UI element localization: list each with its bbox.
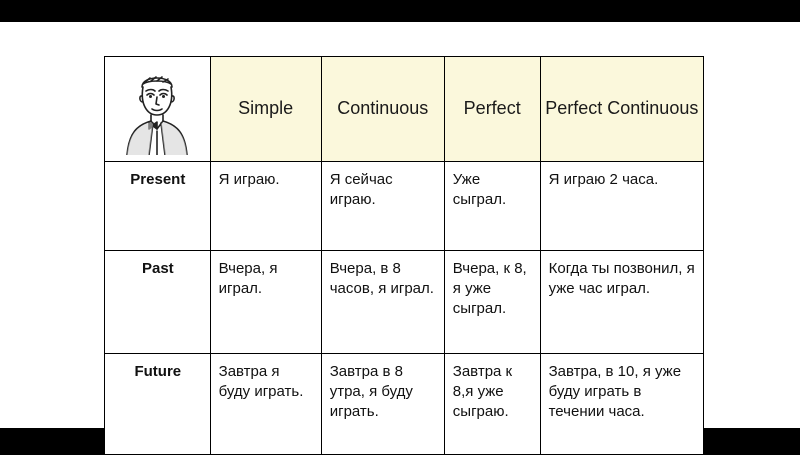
man-in-tuxedo-icon <box>109 63 205 155</box>
avatar <box>105 63 210 155</box>
cell-future-continuous: Завтра в 8 утра, я буду играть. <box>321 354 444 455</box>
row-label-present: Present <box>105 162 211 251</box>
cell-past-continuous: Вчера, в 8 часов, я играл. <box>321 251 444 354</box>
row-label-future: Future <box>105 354 211 455</box>
column-header-simple: Simple <box>210 57 321 162</box>
column-header-continuous: Continuous <box>321 57 444 162</box>
screenshot-stage: Simple Continuous Perfect Perfect Contin… <box>0 0 800 450</box>
cell-past-perfect: Вчера, к 8, я уже сыграл. <box>444 251 540 354</box>
cell-present-continuous: Я сейчас играю. <box>321 162 444 251</box>
cell-present-simple: Я играю. <box>210 162 321 251</box>
avatar-cell <box>105 57 211 162</box>
cell-future-perfect-continuous: Завтра, в 10, я уже буду играть в течени… <box>540 354 703 455</box>
cell-past-simple: Вчера, я играл. <box>210 251 321 354</box>
table-row-future: Future Завтра я буду играть. Завтра в 8 … <box>105 354 704 455</box>
tenses-table: Simple Continuous Perfect Perfect Contin… <box>104 56 704 455</box>
table-row-present: Present Я играю. Я сейчас играю. Уже сыг… <box>105 162 704 251</box>
cell-present-perfect: Уже сыграл. <box>444 162 540 251</box>
column-header-perfect: Perfect <box>444 57 540 162</box>
cell-future-perfect: Завтра к 8,я уже сыграю. <box>444 354 540 455</box>
cell-past-perfect-continuous: Когда ты позвонил, я уже час играл. <box>540 251 703 354</box>
table-row-past: Past Вчера, я играл. Вчера, в 8 часов, я… <box>105 251 704 354</box>
cell-future-simple: Завтра я буду играть. <box>210 354 321 455</box>
table-header-row: Simple Continuous Perfect Perfect Contin… <box>105 57 704 162</box>
column-header-perfect-continuous: Perfect Continuous <box>540 57 703 162</box>
cell-present-perfect-continuous: Я играю 2 часа. <box>540 162 703 251</box>
row-label-past: Past <box>105 251 211 354</box>
content-sheet: Simple Continuous Perfect Perfect Contin… <box>0 22 800 428</box>
